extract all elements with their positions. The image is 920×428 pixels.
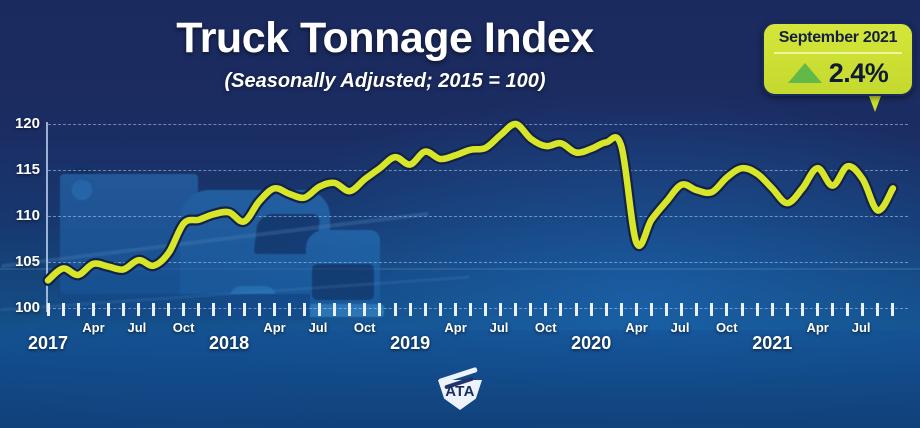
x-axis-tick: [303, 303, 306, 316]
x-axis-tick: [394, 303, 397, 316]
x-axis-tick: [635, 303, 638, 316]
x-axis-tick: [876, 303, 879, 316]
x-axis-year-label: 2019: [390, 333, 430, 354]
x-axis-year-label: 2017: [28, 333, 68, 354]
x-axis-tick: [786, 303, 789, 316]
x-axis-tick: [212, 303, 215, 316]
y-axis-tick-label: 115: [2, 161, 40, 178]
x-axis-year-label: 2018: [209, 333, 249, 354]
x-axis-month-label: Jul: [128, 320, 147, 335]
x-axis-tick: [92, 303, 95, 316]
x-axis-tick: [891, 303, 894, 316]
x-axis-tick: [273, 303, 276, 316]
x-axis-tick: [107, 303, 110, 316]
x-axis-tick: [122, 303, 125, 316]
x-axis-tick: [243, 303, 246, 316]
x-axis-month-label: Jul: [309, 320, 328, 335]
badge-date-label: September 2021: [764, 29, 912, 47]
x-axis-tick: [544, 303, 547, 316]
x-axis-tick: [258, 303, 261, 316]
x-axis-tick: [741, 303, 744, 316]
x-axis-year-label: 2021: [752, 333, 792, 354]
page-title: Truck Tonnage Index: [0, 14, 770, 63]
x-axis-tick: [152, 303, 155, 316]
x-axis-tick: [333, 303, 336, 316]
x-axis-tick: [831, 303, 834, 316]
x-axis-tick: [756, 303, 759, 316]
truck-bumper: [304, 304, 384, 317]
x-axis-tick: [469, 303, 472, 316]
ata-logo: ATA: [432, 370, 488, 414]
x-axis-tick: [801, 303, 804, 316]
chart-infographic: Truck Tonnage Index (Seasonally Adjusted…: [0, 0, 920, 428]
badge-value-label: 2.4%: [829, 58, 889, 89]
y-axis-tick-label: 120: [2, 115, 40, 132]
x-axis-month-label: Oct: [535, 320, 557, 335]
x-axis-tick: [424, 303, 427, 316]
x-axis-tick: [575, 303, 578, 316]
gridline: [48, 170, 908, 171]
x-axis-month-label: Jul: [671, 320, 690, 335]
x-axis-tick: [695, 303, 698, 316]
x-axis-month-label: Apr: [444, 320, 466, 335]
x-axis-month-label: Apr: [263, 320, 285, 335]
x-axis-tick: [47, 303, 50, 316]
x-axis-tick: [228, 303, 231, 316]
gridline: [48, 216, 908, 217]
y-axis-tick-label: 110: [2, 207, 40, 224]
x-axis-tick: [288, 303, 291, 316]
x-axis-tick: [665, 303, 668, 316]
x-axis-tick: [680, 303, 683, 316]
x-axis-month-label: Jul: [490, 320, 509, 335]
badge-divider: [774, 52, 902, 54]
triangle-up-icon: [788, 63, 822, 83]
x-axis-month-label: Oct: [354, 320, 376, 335]
x-axis-tick: [378, 303, 381, 316]
x-axis-tick: [409, 303, 412, 316]
x-axis-month-label: Apr: [625, 320, 647, 335]
x-axis-tick: [725, 303, 728, 316]
x-axis-tick: [167, 303, 170, 316]
x-axis-tick: [771, 303, 774, 316]
status-badge: September 2021 2.4%: [762, 22, 914, 96]
y-axis-tick-label: 105: [2, 253, 40, 270]
gridline: [48, 124, 908, 125]
x-axis-tick: [861, 303, 864, 316]
x-axis-year-label: 2020: [571, 333, 611, 354]
x-axis-tick: [348, 303, 351, 316]
x-axis-month-label: Apr: [82, 320, 104, 335]
x-axis-tick: [710, 303, 713, 316]
x-axis-tick: [454, 303, 457, 316]
x-axis-tick: [529, 303, 532, 316]
x-axis-month-label: Apr: [806, 320, 828, 335]
logo-text: ATA: [438, 383, 482, 400]
x-axis-tick: [318, 303, 321, 316]
gridline: [48, 262, 908, 263]
x-axis-tick: [499, 303, 502, 316]
x-axis-tick: [439, 303, 442, 316]
x-axis-tick: [514, 303, 517, 316]
x-axis-tick: [363, 303, 366, 316]
x-axis-tick: [846, 303, 849, 316]
x-axis-tick: [650, 303, 653, 316]
badge-value-row: 2.4%: [764, 55, 912, 91]
x-axis-tick: [62, 303, 65, 316]
y-axis-tick-label: 100: [2, 299, 40, 316]
x-axis-tick: [559, 303, 562, 316]
x-axis-tick: [197, 303, 200, 316]
x-axis-month-label: Jul: [852, 320, 871, 335]
page-subtitle: (Seasonally Adjusted; 2015 = 100): [0, 70, 770, 93]
x-axis-tick: [590, 303, 593, 316]
gridline: [48, 308, 908, 309]
x-axis-tick: [182, 303, 185, 316]
x-axis-month-label: Oct: [173, 320, 195, 335]
x-axis-tick: [816, 303, 819, 316]
x-axis-tick: [484, 303, 487, 316]
y-axis-line: [46, 122, 48, 312]
x-axis-tick: [620, 303, 623, 316]
x-axis-tick: [605, 303, 608, 316]
x-axis-month-label: Oct: [716, 320, 738, 335]
x-axis-tick: [137, 303, 140, 316]
x-axis-tick: [77, 303, 80, 316]
